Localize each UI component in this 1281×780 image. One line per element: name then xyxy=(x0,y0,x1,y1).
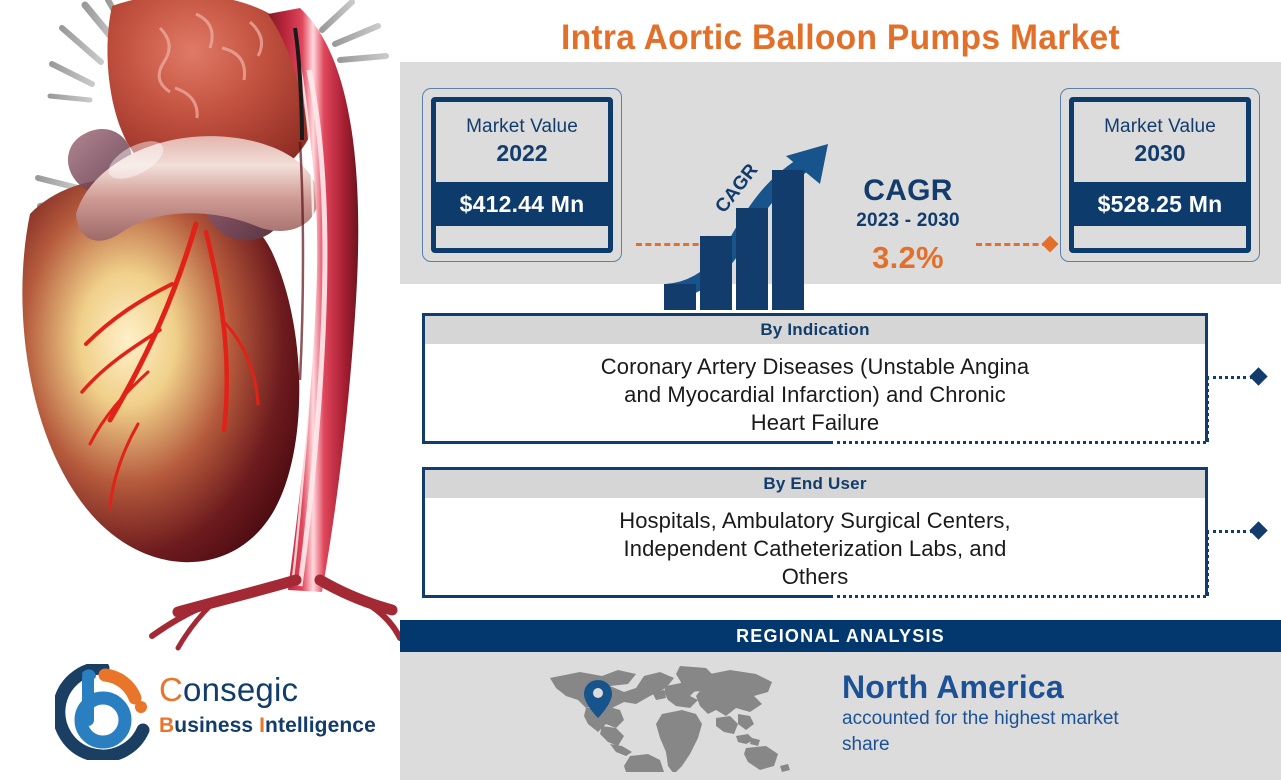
segment-body-indication: Coronary Artery Diseases (Unstable Angin… xyxy=(425,344,1205,450)
card-header-area: Market Value 2030 xyxy=(1074,102,1246,182)
segment-body-enduser: Hospitals, Ambulatory Surgical Centers, … xyxy=(425,498,1205,604)
enduser-dotted-vertical xyxy=(1206,530,1209,596)
market-value-amount-2022: $412.44 Mn xyxy=(436,182,608,226)
logo-intelligence-rest: ntelligence xyxy=(265,714,376,737)
logo-wordmark: Consegic Business Intelligence xyxy=(159,668,399,740)
cagr-percentage: 3.2% xyxy=(838,234,978,282)
logo-c-letter: C xyxy=(159,671,183,708)
enduser-dotted-bottom xyxy=(830,595,1206,598)
logo-tagline: Business Intelligence xyxy=(159,712,399,740)
regional-analysis-copy: North America accounted for the highest … xyxy=(842,668,1152,758)
enduser-dotted-arm xyxy=(1206,530,1253,533)
market-value-year-2030: 2030 xyxy=(1134,139,1185,167)
infographic-canvas: Consegic Business Intelligence Intra Aor… xyxy=(0,0,1281,780)
market-value-label-2022: Market Value xyxy=(466,115,578,139)
cagr-period: 2023 - 2030 xyxy=(838,208,978,234)
card-inner-frame: Market Value 2030 $528.25 Mn xyxy=(1069,97,1251,253)
market-value-label-2030: Market Value xyxy=(1104,115,1216,139)
logo-business-rest: usiness xyxy=(174,714,259,737)
logo-mark-icon xyxy=(55,664,151,760)
connector-right xyxy=(976,238,1062,250)
market-value-year-2022: 2022 xyxy=(496,139,547,167)
indication-diamond-icon xyxy=(1249,367,1267,385)
world-map-icon[interactable] xyxy=(540,662,800,772)
segment-card-indication[interactable]: By Indication Coronary Artery Diseases (… xyxy=(422,313,1208,444)
leading-region-description: accounted for the highest market share xyxy=(842,706,1152,758)
card-inner-frame: Market Value 2022 $412.44 Mn xyxy=(431,97,613,253)
market-value-2022-card[interactable]: Market Value 2022 $412.44 Mn xyxy=(422,88,622,262)
indication-dotted-bottom xyxy=(830,441,1206,444)
segment-line: Hospitals, Ambulatory Surgical Centers, xyxy=(435,507,1195,535)
regional-analysis-section: REGIONAL ANALYSIS xyxy=(400,620,1281,780)
cagr-text-block: CAGR 2023 - 2030 3.2% xyxy=(838,174,978,282)
segment-line: Independent Catheterization Labs, and xyxy=(435,535,1195,563)
market-value-panel: Market Value 2022 $412.44 Mn xyxy=(400,62,1281,284)
market-value-2030-card[interactable]: Market Value 2030 $528.25 Mn xyxy=(1060,88,1260,262)
card-header-area: Market Value 2022 xyxy=(436,102,608,182)
market-value-amount-2030: $528.25 Mn xyxy=(1074,182,1246,226)
company-logo[interactable]: Consegic Business Intelligence xyxy=(55,662,385,767)
card-footer-strip xyxy=(436,226,608,248)
segment-heading-enduser: By End User xyxy=(425,470,1205,498)
segment-line: Coronary Artery Diseases (Unstable Angin… xyxy=(435,353,1195,381)
logo-b-letter: B xyxy=(159,714,174,737)
leading-region-name: North America xyxy=(842,668,1152,706)
regional-analysis-heading: REGIONAL ANALYSIS xyxy=(400,620,1281,652)
cagr-heading: CAGR xyxy=(838,174,978,208)
segment-line: Others xyxy=(435,563,1195,591)
heart-anatomy-illustration xyxy=(0,0,400,660)
indication-dotted-arm xyxy=(1206,376,1253,379)
segment-heading-indication: By Indication xyxy=(425,316,1205,344)
segment-line: and Myocardial Infarction) and Chronic xyxy=(435,381,1195,409)
connector-right-dashes xyxy=(976,243,1048,246)
regional-analysis-body: North America accounted for the highest … xyxy=(400,652,1281,780)
page-title: Intra Aortic Balloon Pumps Market xyxy=(418,14,1264,62)
segment-card-enduser[interactable]: By End User Hospitals, Ambulatory Surgic… xyxy=(422,467,1208,598)
logo-company-name: Consegic xyxy=(159,668,399,712)
indication-dotted-vertical xyxy=(1206,376,1209,442)
enduser-diamond-icon xyxy=(1249,521,1267,539)
cagr-growth-chart-icon: CAGR 2023 2030 xyxy=(662,140,832,330)
logo-name-rest: onsegic xyxy=(183,671,298,708)
segment-line: Heart Failure xyxy=(435,409,1195,437)
card-footer-strip xyxy=(1074,226,1246,248)
connector-right-diamond-icon xyxy=(1042,236,1059,253)
